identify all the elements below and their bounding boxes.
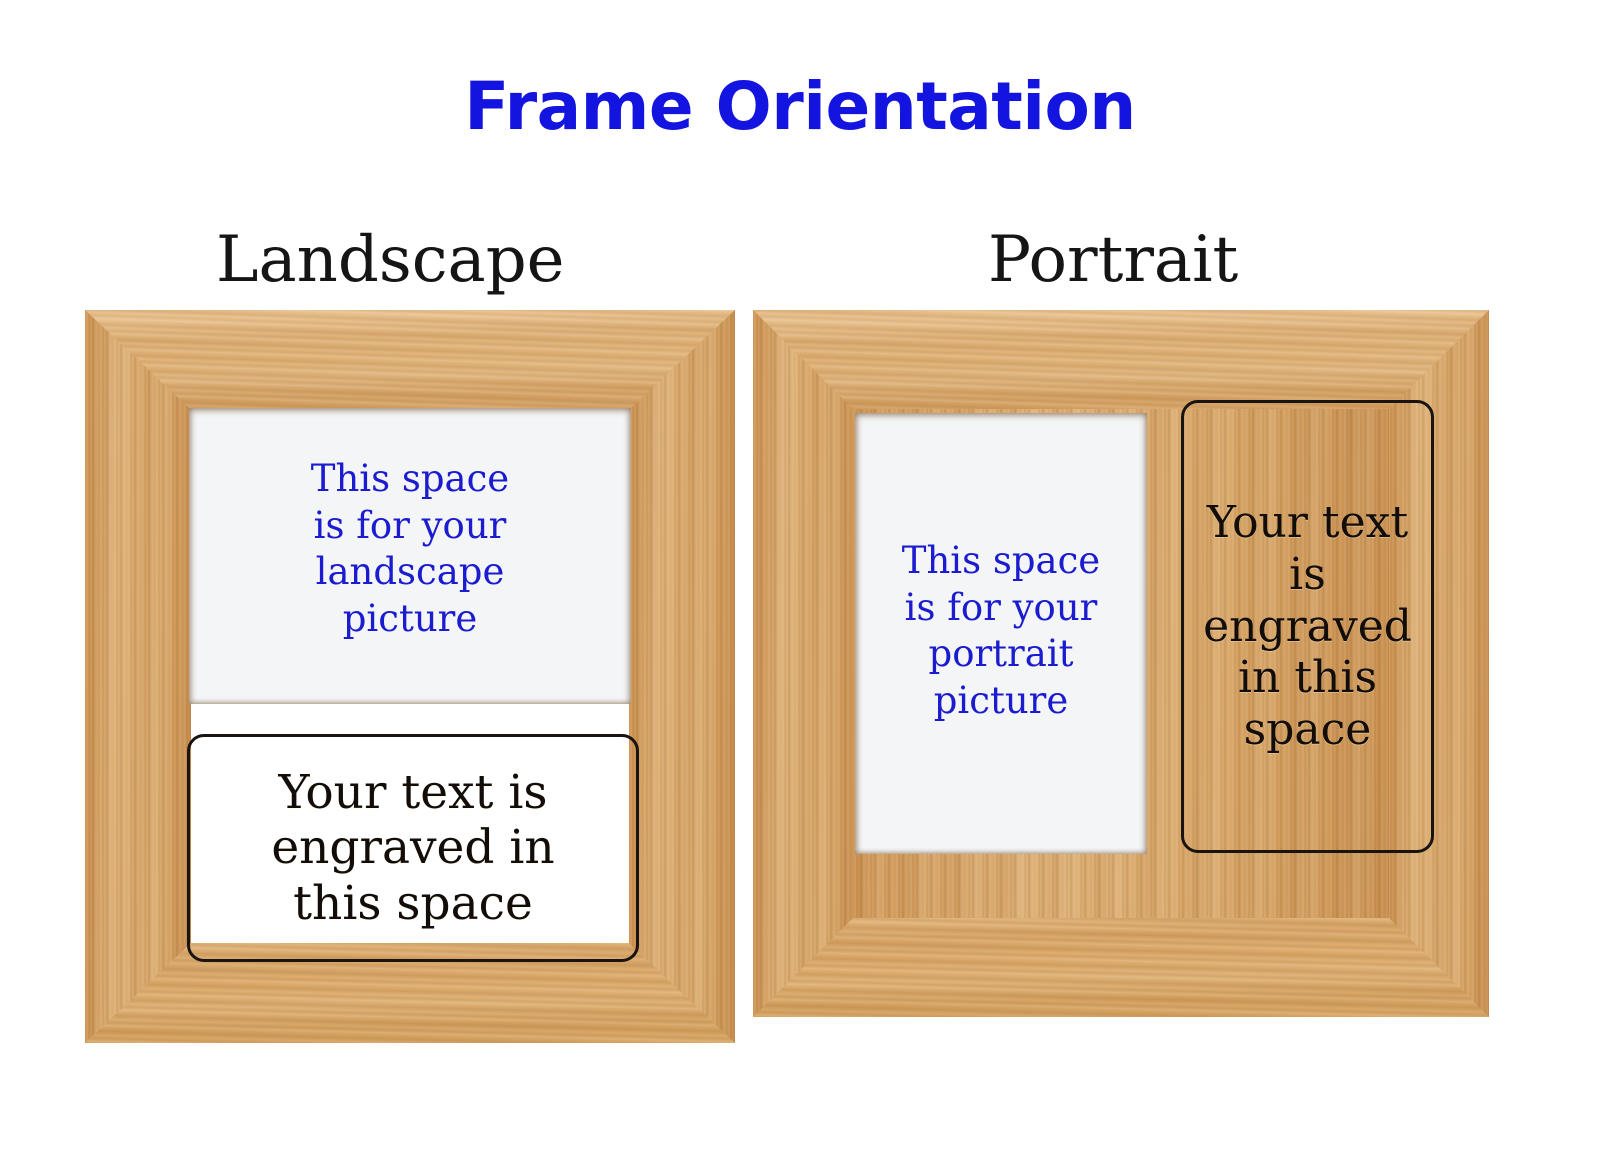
portrait-engraving-text: Your text is engraved in this space [1203, 497, 1412, 757]
poster-canvas: Frame Orientation Landscape This space i… [0, 0, 1600, 1172]
landscape-engraving-text: Your text is engraved in this space [271, 765, 554, 931]
portrait-frame-caption: Portrait [988, 228, 1238, 292]
portrait-photo-area[interactable]: This space is for your portrait picture [855, 413, 1147, 854]
frame-left-rail [85, 310, 191, 1043]
landscape-photo-placeholder-text: This space is for your landscape picture [189, 456, 631, 642]
portrait-photo-placeholder-text: This space is for your portrait picture [855, 538, 1147, 724]
portrait-engraving-area[interactable]: Your text is engraved in this space [1181, 400, 1434, 853]
landscape-picture-frame: This space is for your landscape picture… [85, 310, 735, 1043]
frame-left-rail [753, 310, 855, 1017]
frame-top-rail [753, 310, 1489, 411]
frame-bottom-rail [753, 916, 1489, 1017]
landscape-frame-caption: Landscape [216, 228, 565, 292]
frame-right-rail [629, 310, 735, 1043]
page-title: Frame Orientation [0, 74, 1600, 140]
landscape-photo-area[interactable]: This space is for your landscape picture [189, 408, 631, 704]
landscape-engraving-area[interactable]: Your text is engraved in this space [187, 734, 639, 962]
frame-top-rail [85, 310, 735, 410]
